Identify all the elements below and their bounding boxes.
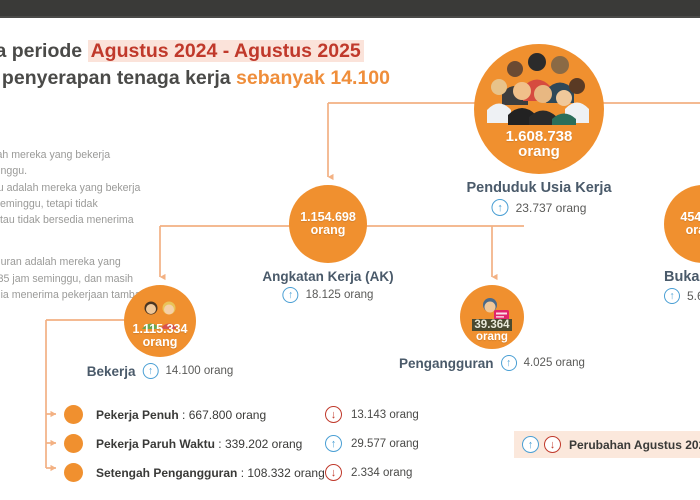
label-angkatan-kerja: Angkatan Kerja (AK) <box>262 269 393 284</box>
breakdown-label: Pekerja Paruh Waktu <box>96 437 215 451</box>
breakdown-label: Pekerja Penuh <box>96 408 179 422</box>
breakdown-separator: : <box>179 408 189 422</box>
bubble-bekerja[interactable]: 1.115.334 orang <box>124 285 196 357</box>
delta-angkatan-kerja: ↑ 18.125 orang <box>262 287 393 303</box>
headline: Selama periode Agustus 2024 - Agustus 20… <box>0 38 368 92</box>
node-bukan-angkatan-kerja[interactable]: 454.040 orang Bukan Angkatan Kerja ↑ 5.6… <box>664 185 700 263</box>
breakdown-separator: : <box>237 466 247 480</box>
breakdown-delta: ↓ 13.143 orang <box>325 406 419 423</box>
value-unit: orang <box>133 336 188 349</box>
definition-line: Pekerja Paruh Waktu adalah mereka yang b… <box>0 181 204 196</box>
value-angkatan-kerja: 1.154.698 orang <box>300 211 356 237</box>
definition-line: Setengah Pengangguran adalah mereka yang <box>0 255 204 270</box>
legend-label: Perubahan Agustus 2024 <box>569 438 700 452</box>
arrow-up-icon: ↑ <box>664 288 680 304</box>
breakdown-row[interactable]: Pekerja Paruh Waktu : 339.202 orang ↑ 29… <box>40 429 500 458</box>
legend: ↑ ↓ Perubahan Agustus 2024 <box>514 431 700 458</box>
headline-period-highlight: Agustus 2024 - Agustus 2025 <box>88 40 364 62</box>
bubble-pengangguran[interactable]: 39.364 orang <box>460 285 524 349</box>
value-bekerja: 1.115.334 orang <box>133 323 188 357</box>
bubble-penduduk-usia-kerja[interactable]: 1.608.738 orang <box>474 44 604 174</box>
headline-line2-prefix: terjadi penyerapan tenaga kerja <box>0 67 236 89</box>
caption-pengangguran: Pengangguran ↑ 4.025 orang <box>399 355 585 371</box>
arrow-up-icon: ↑ <box>143 363 159 379</box>
banner-underline <box>0 16 700 18</box>
breakdown-text: Pekerja Paruh Waktu : 339.202 orang <box>96 437 302 451</box>
headline-line1-prefix: Selama periode <box>0 40 88 62</box>
arrow-up-icon: ↑ <box>492 199 509 216</box>
value-pengangguran: 39.364 orang <box>472 319 511 349</box>
value-number: 1.115.334 <box>133 322 188 336</box>
bullet-dot-icon <box>64 463 83 482</box>
breakdown-delta: ↑ 29.577 orang <box>325 435 419 452</box>
definition-spacer <box>0 246 204 255</box>
legend-arrow-up-icon: ↑ <box>522 436 539 453</box>
delta-value: 4.025 orang <box>524 357 585 369</box>
definitions-block: Pekerja Penuh adalah mereka yang bekerja… <box>0 148 204 304</box>
headline-line-1: Selama periode Agustus 2024 - Agustus 20… <box>0 38 368 65</box>
caption-bukan-angkatan-kerja: Bukan Angkatan Kerja ↑ 5.612 orang <box>664 269 700 304</box>
headline-amount-highlight: sebanyak 14.100 <box>236 67 390 89</box>
breakdown-value: 339.202 orang <box>225 437 302 451</box>
delta-value: 18.125 orang <box>306 289 374 301</box>
value-number: 1.154.698 <box>300 210 356 224</box>
arrow-down-icon: ↓ <box>325 464 342 481</box>
delta-value: 23.737 orang <box>516 201 587 215</box>
label-pengangguran: Pengangguran <box>399 356 494 371</box>
definition-line: mencari pekerjaan atau tidak bersedia me… <box>0 213 204 228</box>
value-penduduk-usia-kerja: 1.608.738 orang <box>506 129 573 175</box>
breakdown-delta-value: 29.577 orang <box>351 438 419 450</box>
value-number: 1.608.738 <box>506 128 573 145</box>
breakdown-text: Setengah Pengangguran : 108.332 orang <box>96 466 325 480</box>
people-crowd-icon <box>474 52 604 125</box>
delta-bukan-angkatan-kerja: ↑ 5.612 orang <box>664 288 700 304</box>
node-bekerja[interactable]: 1.115.334 orang Bekerja ↑ 14.100 orang <box>124 285 196 357</box>
breakdown-label: Setengah Pengangguran <box>96 466 237 480</box>
legend-arrow-down-icon: ↓ <box>544 436 561 453</box>
breakdown-delta-value: 2.334 orang <box>351 467 412 479</box>
node-angkatan-kerja[interactable]: 1.154.698 orang Angkatan Kerja (AK) ↑ 18… <box>289 185 367 263</box>
definition-line: Pekerja Penuh adalah mereka yang bekerja <box>0 148 204 163</box>
label-penduduk-usia-kerja: Penduduk Usia Kerja <box>466 180 611 196</box>
value-unit: orang <box>472 331 511 343</box>
delta-value: 5.612 orang <box>687 289 700 303</box>
arrow-up-icon: ↑ <box>501 355 517 371</box>
definition-line: pekerjaan lain. <box>0 230 204 245</box>
value-unit: orang <box>506 144 573 160</box>
arrow-down-icon: ↓ <box>325 406 342 423</box>
delta-penduduk-usia-kerja: ↑ 23.737 orang <box>466 199 611 216</box>
value-number: 39.364 <box>472 319 511 331</box>
breakdown-row[interactable]: Setengah Pengangguran : 108.332 orang ↓ … <box>40 458 500 487</box>
breakdown-value: 108.332 orang <box>247 466 324 480</box>
banner-title-clipped: KETENAGAKERJAAN DI NTB TAHUN 2025 <box>0 0 700 5</box>
arrow-up-icon: ↑ <box>283 287 299 303</box>
label-bukan-angkatan-kerja: Bukan Angkatan Kerja <box>664 269 700 285</box>
breakdown-row[interactable]: Pekerja Penuh : 667.800 orang ↓ 13.143 o… <box>40 400 500 429</box>
label-bekerja: Bekerja <box>87 364 136 379</box>
bullet-dot-icon <box>64 434 83 453</box>
breakdown-list: Pekerja Penuh : 667.800 orang ↓ 13.143 o… <box>40 400 500 487</box>
bullet-dot-icon <box>64 405 83 424</box>
bubble-angkatan-kerja[interactable]: 1.154.698 orang <box>289 185 367 263</box>
definition-line: minimal 35 jam seminggu. <box>0 164 204 179</box>
node-penduduk-usia-kerja[interactable]: 1.608.738 orang Penduduk Usia Kerja ↑ 23… <box>474 44 604 174</box>
caption-angkatan-kerja: Angkatan Kerja (AK) ↑ 18.125 orang <box>262 269 393 303</box>
value-unit: orang <box>300 224 356 237</box>
definition-line: kurang dari 35 jam seminggu, tetapi tida… <box>0 197 204 212</box>
breakdown-value: 667.800 orang <box>189 408 266 422</box>
breakdown-delta-value: 13.143 orang <box>351 409 419 421</box>
value-bukan-angkatan-kerja: 454.040 orang <box>680 211 700 237</box>
breakdown-delta: ↓ 2.334 orang <box>325 464 412 481</box>
bubble-bukan-angkatan-kerja[interactable]: 454.040 orang <box>664 185 700 263</box>
caption-penduduk-usia-kerja: Penduduk Usia Kerja ↑ 23.737 orang <box>466 180 611 216</box>
top-banner: KETENAGAKERJAAN DI NTB TAHUN 2025 <box>0 0 700 16</box>
node-pengangguran[interactable]: 39.364 orang Pengangguran ↑ 4.025 orang <box>460 285 524 349</box>
breakdown-text: Pekerja Penuh : 667.800 orang <box>96 408 266 422</box>
arrow-up-icon: ↑ <box>325 435 342 452</box>
value-number: 454.040 <box>680 210 700 224</box>
breakdown-separator: : <box>215 437 225 451</box>
headline-line-2: terjadi penyerapan tenaga kerja sebanyak… <box>0 65 368 92</box>
value-unit: orang <box>680 224 700 237</box>
caption-bekerja: Bekerja ↑ 14.100 orang <box>87 363 234 379</box>
delta-value: 14.100 orang <box>166 365 234 377</box>
